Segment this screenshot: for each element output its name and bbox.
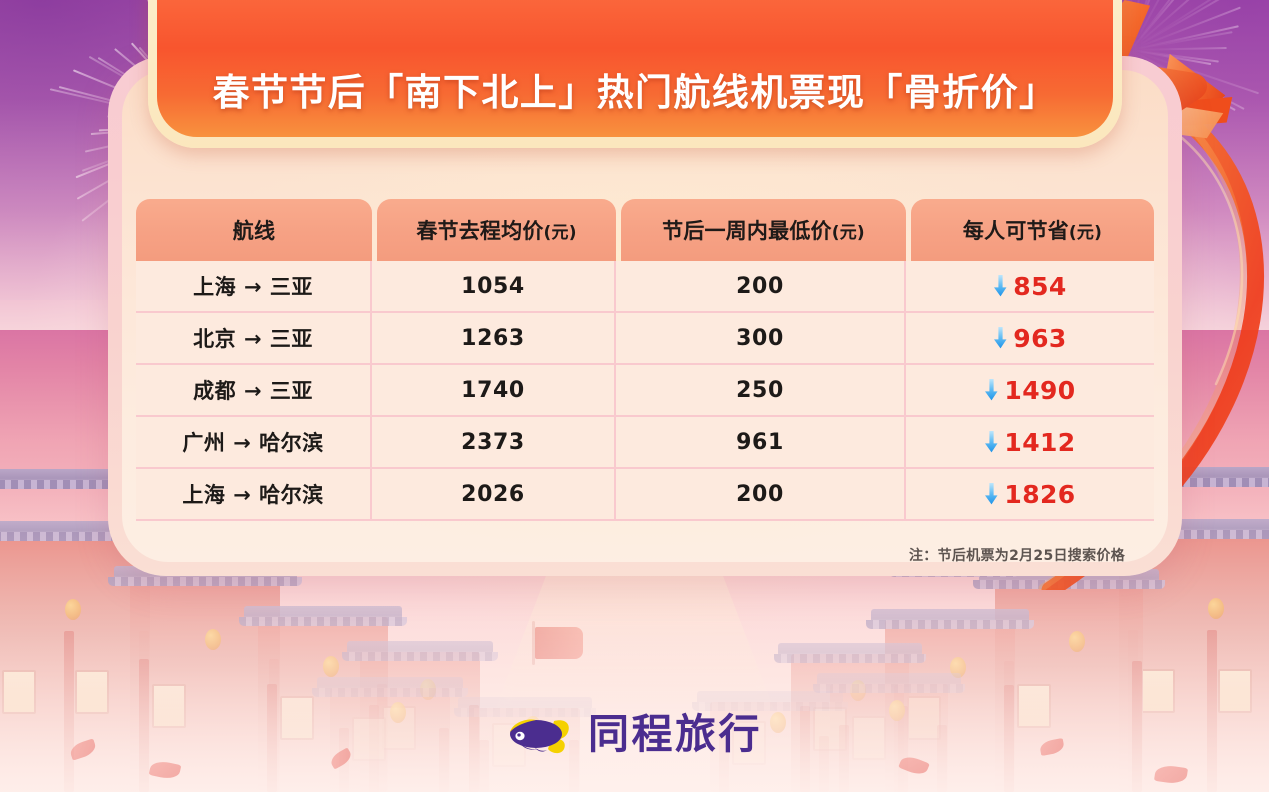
arrow-down-icon: [984, 379, 999, 401]
title-banner: 春节节后「南下北上」热门航线机票现「骨折价」: [148, 0, 1122, 148]
cell-route: 上海 → 三亚: [136, 261, 372, 311]
arrow-down-icon: [984, 483, 999, 505]
savings-number: 963: [1013, 324, 1066, 353]
cell-avg-price: 2026: [372, 469, 616, 519]
column-header-avg-price-label: 春节去程均价: [416, 215, 543, 245]
savings-value: 1826: [984, 480, 1075, 509]
arrow-down-icon: [984, 431, 999, 453]
price-comparison-table: 航线 春节去程均价(元) 节后一周内最低价 (元) 每人可节省(元) 上海 → …: [136, 199, 1154, 521]
table-row: 广州 → 哈尔滨2373961 1412: [136, 417, 1154, 469]
cell-avg-price: 2373: [372, 417, 616, 467]
table-row: 北京 → 三亚1263300 963: [136, 313, 1154, 365]
savings-value: 854: [993, 272, 1066, 301]
savings-value: 963: [993, 324, 1066, 353]
cell-avg-price: 1740: [372, 365, 616, 415]
cell-lowest-price: 961: [616, 417, 906, 467]
column-header-savings: 每人可节省(元): [911, 199, 1154, 261]
cell-route: 上海 → 哈尔滨: [136, 469, 372, 519]
cell-route: 广州 → 哈尔滨: [136, 417, 372, 467]
cell-savings: 1490: [906, 365, 1154, 415]
column-header-savings-label: 每人可节省: [963, 215, 1069, 245]
cell-route: 成都 → 三亚: [136, 365, 372, 415]
cell-avg-price: 1054: [372, 261, 616, 311]
table-row: 上海 → 三亚1054200 854: [136, 261, 1154, 313]
table-row: 上海 → 哈尔滨2026200 1826: [136, 469, 1154, 521]
cell-savings: 1826: [906, 469, 1154, 519]
whale-logo-icon: [507, 712, 575, 756]
cell-lowest-price: 200: [616, 261, 906, 311]
column-header-savings-unit: (元): [1069, 218, 1102, 243]
cell-lowest-price: 300: [616, 313, 906, 363]
infographic-stage: 春节节后「南下北上」热门航线机票现「骨折价」 航线 春节去程均价(元) 节后一周…: [0, 0, 1269, 792]
savings-number: 854: [1013, 272, 1066, 301]
savings-number: 1412: [1004, 428, 1075, 457]
savings-number: 1826: [1004, 480, 1075, 509]
cell-savings: 1412: [906, 417, 1154, 467]
column-header-route: 航线: [136, 199, 372, 261]
cell-savings: 963: [906, 313, 1154, 363]
brand-logo-text: 同程旅行: [588, 714, 762, 755]
cell-route: 北京 → 三亚: [136, 313, 372, 363]
page-title: 春节节后「南下北上」热门航线机票现「骨折价」: [148, 62, 1122, 116]
table-body: 上海 → 三亚1054200 854北京 → 三亚1263300 963成都 →…: [136, 261, 1154, 521]
column-header-route-label: 航线: [233, 215, 275, 245]
column-header-lowest-price: 节后一周内最低价 (元): [621, 199, 906, 261]
cell-savings: 854: [906, 261, 1154, 311]
cell-lowest-price: 250: [616, 365, 906, 415]
column-header-avg-price-unit: (元): [544, 218, 577, 243]
arrow-down-icon: [993, 275, 1008, 297]
column-header-avg-price: 春节去程均价(元): [377, 199, 616, 261]
table-row: 成都 → 三亚1740250 1490: [136, 365, 1154, 417]
cell-avg-price: 1263: [372, 313, 616, 363]
column-header-lowest-price-unit: (元): [832, 218, 865, 243]
cell-lowest-price: 200: [616, 469, 906, 519]
table-header-row: 航线 春节去程均价(元) 节后一周内最低价 (元) 每人可节省(元): [136, 199, 1154, 261]
savings-value: 1490: [984, 376, 1075, 405]
savings-number: 1490: [1004, 376, 1075, 405]
column-header-lowest-price-label: 节后一周内最低价: [662, 215, 832, 245]
arrow-down-icon: [993, 327, 1008, 349]
brand-logo: 同程旅行: [0, 712, 1269, 756]
savings-value: 1412: [984, 428, 1075, 457]
table-footnote: 注：节后机票为2月25日搜索价格: [909, 545, 1125, 565]
